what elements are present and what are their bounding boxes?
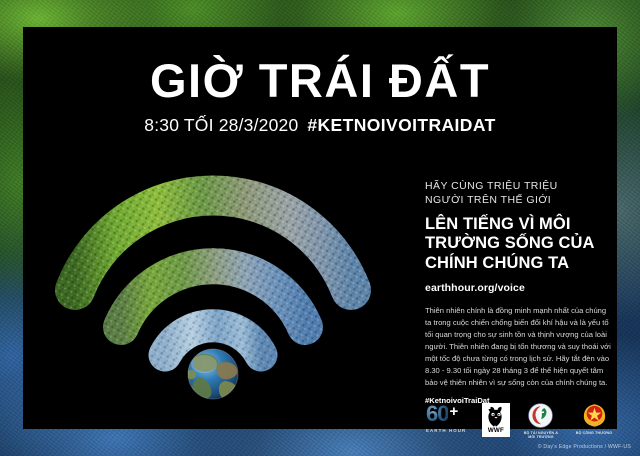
ministry-environment-caption: BỘ TÀI NGUYÊN & MÔI TRƯỜNG bbox=[524, 431, 558, 440]
photo-credit: © Day's Edge Productions / WWF-US bbox=[538, 444, 631, 450]
earth-hour-caption: EARTH HOUR bbox=[426, 428, 473, 433]
earth-hour-number: 60 bbox=[426, 403, 448, 425]
claim-line-3: CHÍNH CHÚNG TA bbox=[425, 254, 611, 273]
message-claim: LÊN TIẾNG VÌ MÔI TRƯỜNG SỐNG CỦA CHÍNH C… bbox=[425, 215, 611, 273]
ministry-environment-caption-line-2: MÔI TRƯỜNG bbox=[524, 435, 558, 440]
campaign-url-link[interactable]: earthhour.org/voice bbox=[425, 282, 611, 294]
bo-tai-nguyen-moi-truong-logo: BỘ TÀI NGUYÊN & MÔI TRƯỜNG bbox=[519, 403, 563, 440]
event-subtitle: 8:30 TỐI 28/3/2020#KETNOIVOITRAIDAT bbox=[23, 115, 617, 136]
ministry-environment-emblem bbox=[528, 403, 553, 428]
event-time: 8:30 TỐI 28/3/2020 bbox=[144, 115, 298, 135]
kicker-line-1: HÃY CÙNG TRIỆU TRIỆU bbox=[425, 179, 611, 193]
wwf-logo: WWF bbox=[482, 403, 510, 437]
earth-globe-icon bbox=[186, 349, 238, 399]
kicker-line-2: NGƯỜI TRÊN THẾ GIỚI bbox=[425, 193, 611, 207]
wifi-earth-graphic bbox=[53, 167, 373, 402]
wwf-wordmark: WWF bbox=[488, 428, 504, 434]
panda-icon bbox=[486, 406, 506, 427]
bo-cong-thuong-logo: BỘ CÔNG THƯƠNG bbox=[572, 403, 616, 435]
vietnam-national-emblem bbox=[582, 403, 607, 428]
earth-hour-plus: + bbox=[449, 403, 458, 422]
body-paragraph: Thiên nhiên chính là đồng minh mạnh nhất… bbox=[425, 305, 611, 389]
claim-line-2: TRƯỜNG SỐNG CỦA bbox=[425, 234, 611, 253]
ministry-industry-caption-line-1: BỘ CÔNG THƯƠNG bbox=[576, 431, 613, 436]
partner-logo-strip: 60+ EARTH HOUR WWF bbox=[426, 403, 616, 443]
earth-hour-poster: GIỜ TRÁI ĐẤT 8:30 TỐI 28/3/2020#KETNOIVO… bbox=[0, 0, 640, 456]
message-column: HÃY CÙNG TRIỆU TRIỆU NGƯỜI TRÊN THẾ GIỚI… bbox=[425, 179, 611, 405]
poster-inner-panel: GIỜ TRÁI ĐẤT 8:30 TỐI 28/3/2020#KETNOIVO… bbox=[23, 27, 617, 429]
earth-hour-logo: 60+ EARTH HOUR bbox=[426, 403, 473, 433]
page-title: GIỜ TRÁI ĐẤT bbox=[23, 57, 617, 104]
claim-line-1: LÊN TIẾNG VÌ MÔI bbox=[425, 215, 611, 234]
message-kicker: HÃY CÙNG TRIỆU TRIỆU NGƯỜI TRÊN THẾ GIỚI bbox=[425, 179, 611, 208]
campaign-hashtag: #KETNOIVOITRAIDAT bbox=[307, 115, 495, 135]
ministry-industry-caption: BỘ CÔNG THƯƠNG bbox=[576, 431, 613, 436]
